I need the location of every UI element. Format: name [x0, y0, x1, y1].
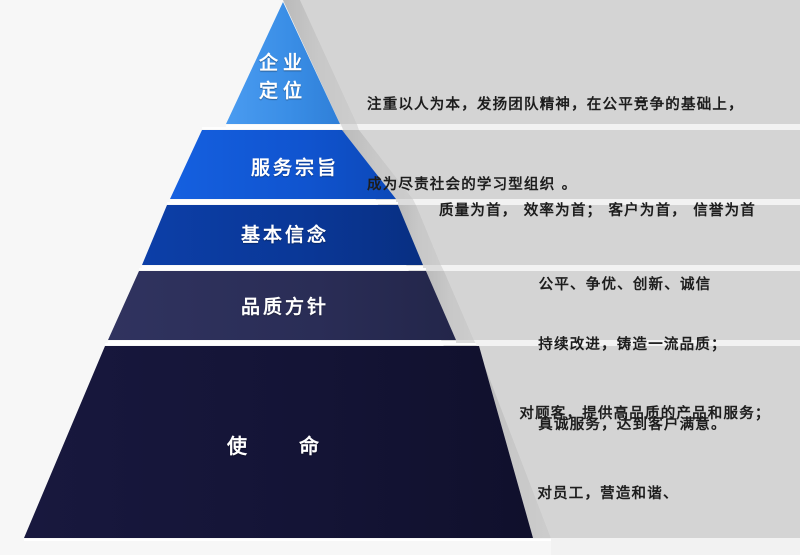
- pyramid-tier-5[interactable]: [24, 346, 533, 538]
- pyramid-tier-4[interactable]: [108, 271, 456, 340]
- pyramid-diagram: 企业 定位 服务宗旨 基本信念 品质方针 使 命 注重以人为本，发扬团队精神，在…: [0, 0, 800, 555]
- tier-1-description-line-1: 注重以人为本，发扬团队精神，在公平竞争的基础上，: [367, 92, 787, 119]
- tier-5-description: 对顾客，提供高品质的产品和服务； 对员工，营造和谐、 相互尊重的工作氛围； 对商…: [495, 347, 795, 555]
- tier-5-description-line-1: 对顾客，提供高品质的产品和服务；: [495, 401, 795, 428]
- tier-5-description-line-2: 对员工，营造和谐、: [495, 481, 795, 508]
